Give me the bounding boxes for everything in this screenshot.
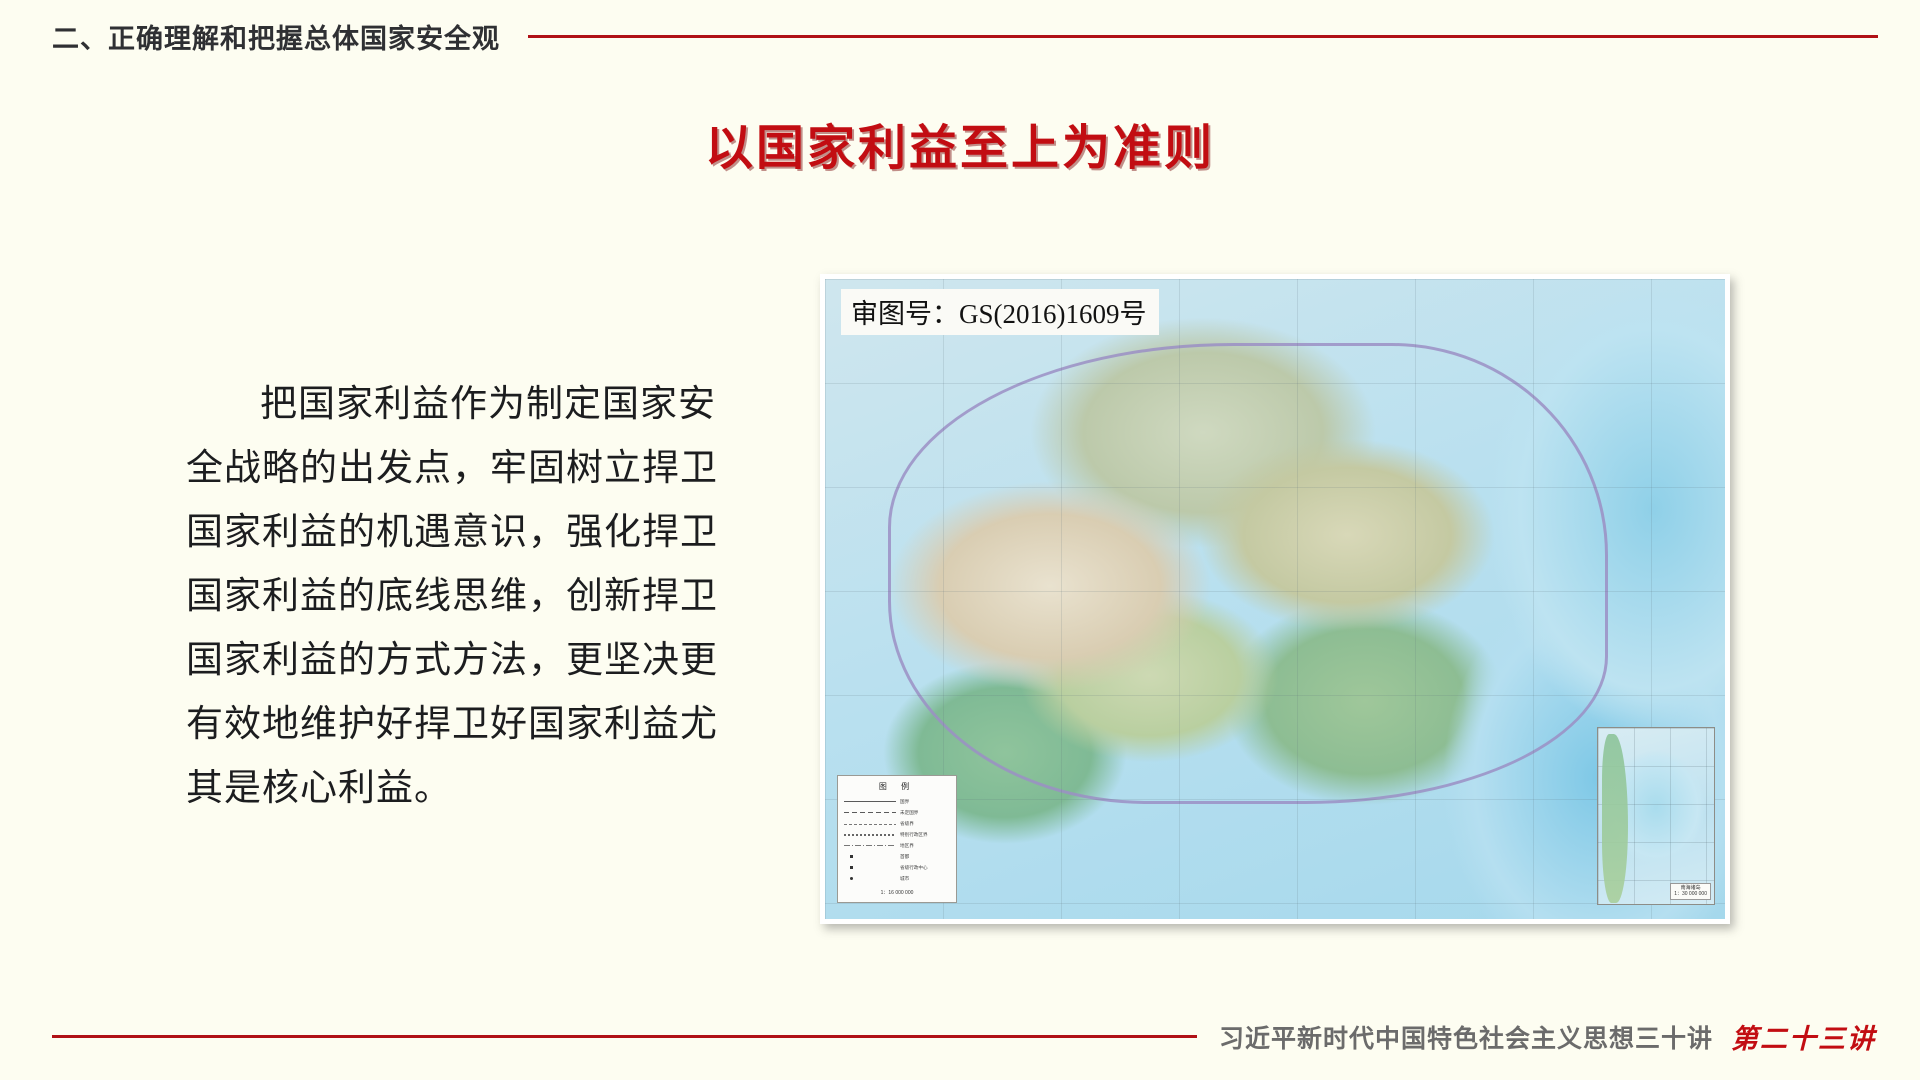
legend-scale-text: 1：16 000 000 [844,889,950,896]
legend-item-label: 首都 [900,854,909,860]
square-point-icon [844,866,896,869]
body-line: 国家利益的底线思维，创新捍卫 [186,564,764,628]
star-point-icon [844,855,896,858]
legend-item-label: 城市 [900,876,909,882]
body-line: 国家利益的机遇意识，强化捍卫 [186,500,764,564]
solid-line-icon [844,799,896,805]
dot-point-icon [844,877,896,880]
legend-item: 国界 [844,796,950,807]
china-map-image: 审图号：GS(2016)1609号 图 例 国界 未定国界 省级界 特别行政区界 [820,274,1730,924]
legend-item: 未定国界 [844,807,950,818]
body-paragraph: 把国家利益作为制定国家安 全战略的出发点，牢固树立捍卫 国家利益的机遇意识，强化… [186,372,764,820]
inset-label-title: 南海诸岛 [1674,885,1707,892]
footer-lecture-label: 第二十三讲 [1731,1017,1876,1056]
inset-label: 南海诸岛 1：30 000 000 [1670,883,1711,901]
body-line: 国家利益的方式方法，更坚决更 [186,628,764,692]
legend-item: 首都 [844,851,950,862]
legend-item: 特别行政区界 [844,829,950,840]
slide-title: 以国家利益至上为准则 [0,108,1920,178]
legend-item: 城市 [844,873,950,884]
header-divider-line [528,35,1878,38]
legend-item-label: 省级界 [900,821,914,827]
thin-dotted-line-icon [844,821,896,827]
legend-item-label: 地区界 [900,843,914,849]
dashed-line-icon [844,810,896,816]
inset-label-scale: 1：30 000 000 [1674,891,1707,898]
slide-footer: 习近平新时代中国特色社会主义思想三十讲 第二十三讲 [0,1017,1920,1056]
map-legend-box: 图 例 国界 未定国界 省级界 特别行政区界 地区界 [837,775,957,903]
national-boundary-line [888,343,1608,804]
south-china-sea-inset-map: 南海诸岛 1：30 000 000 [1597,727,1715,905]
legend-item: 省级界 [844,818,950,829]
body-line: 全战略的出发点，牢固树立捍卫 [186,436,764,500]
legend-item-label: 未定国界 [900,810,918,816]
body-line: 有效地维护好捍卫好国家利益尤 [186,692,764,756]
footer-divider-line [52,1035,1197,1038]
map-canvas: 审图号：GS(2016)1609号 图 例 国界 未定国界 省级界 特别行政区界 [825,279,1725,919]
legend-item-label: 特别行政区界 [900,832,928,838]
slide-header: 二、正确理解和把握总体国家安全观 [0,0,1920,72]
dot-line-icon [844,832,896,838]
map-approval-number: 审图号：GS(2016)1609号 [841,289,1159,335]
legend-title: 图 例 [844,781,950,792]
body-line: 把国家利益作为制定国家安 [186,372,764,436]
footer-series-title: 习近平新时代中国特色社会主义思想三十讲 [1219,1019,1713,1055]
legend-item-label: 国界 [900,799,909,805]
legend-item-label: 省级行政中心 [900,865,928,871]
body-line: 其是核心利益。 [186,756,764,820]
dot-dash-line-icon [844,843,896,849]
legend-item: 地区界 [844,840,950,851]
legend-item: 省级行政中心 [844,862,950,873]
section-title: 二、正确理解和把握总体国家安全观 [52,17,500,56]
